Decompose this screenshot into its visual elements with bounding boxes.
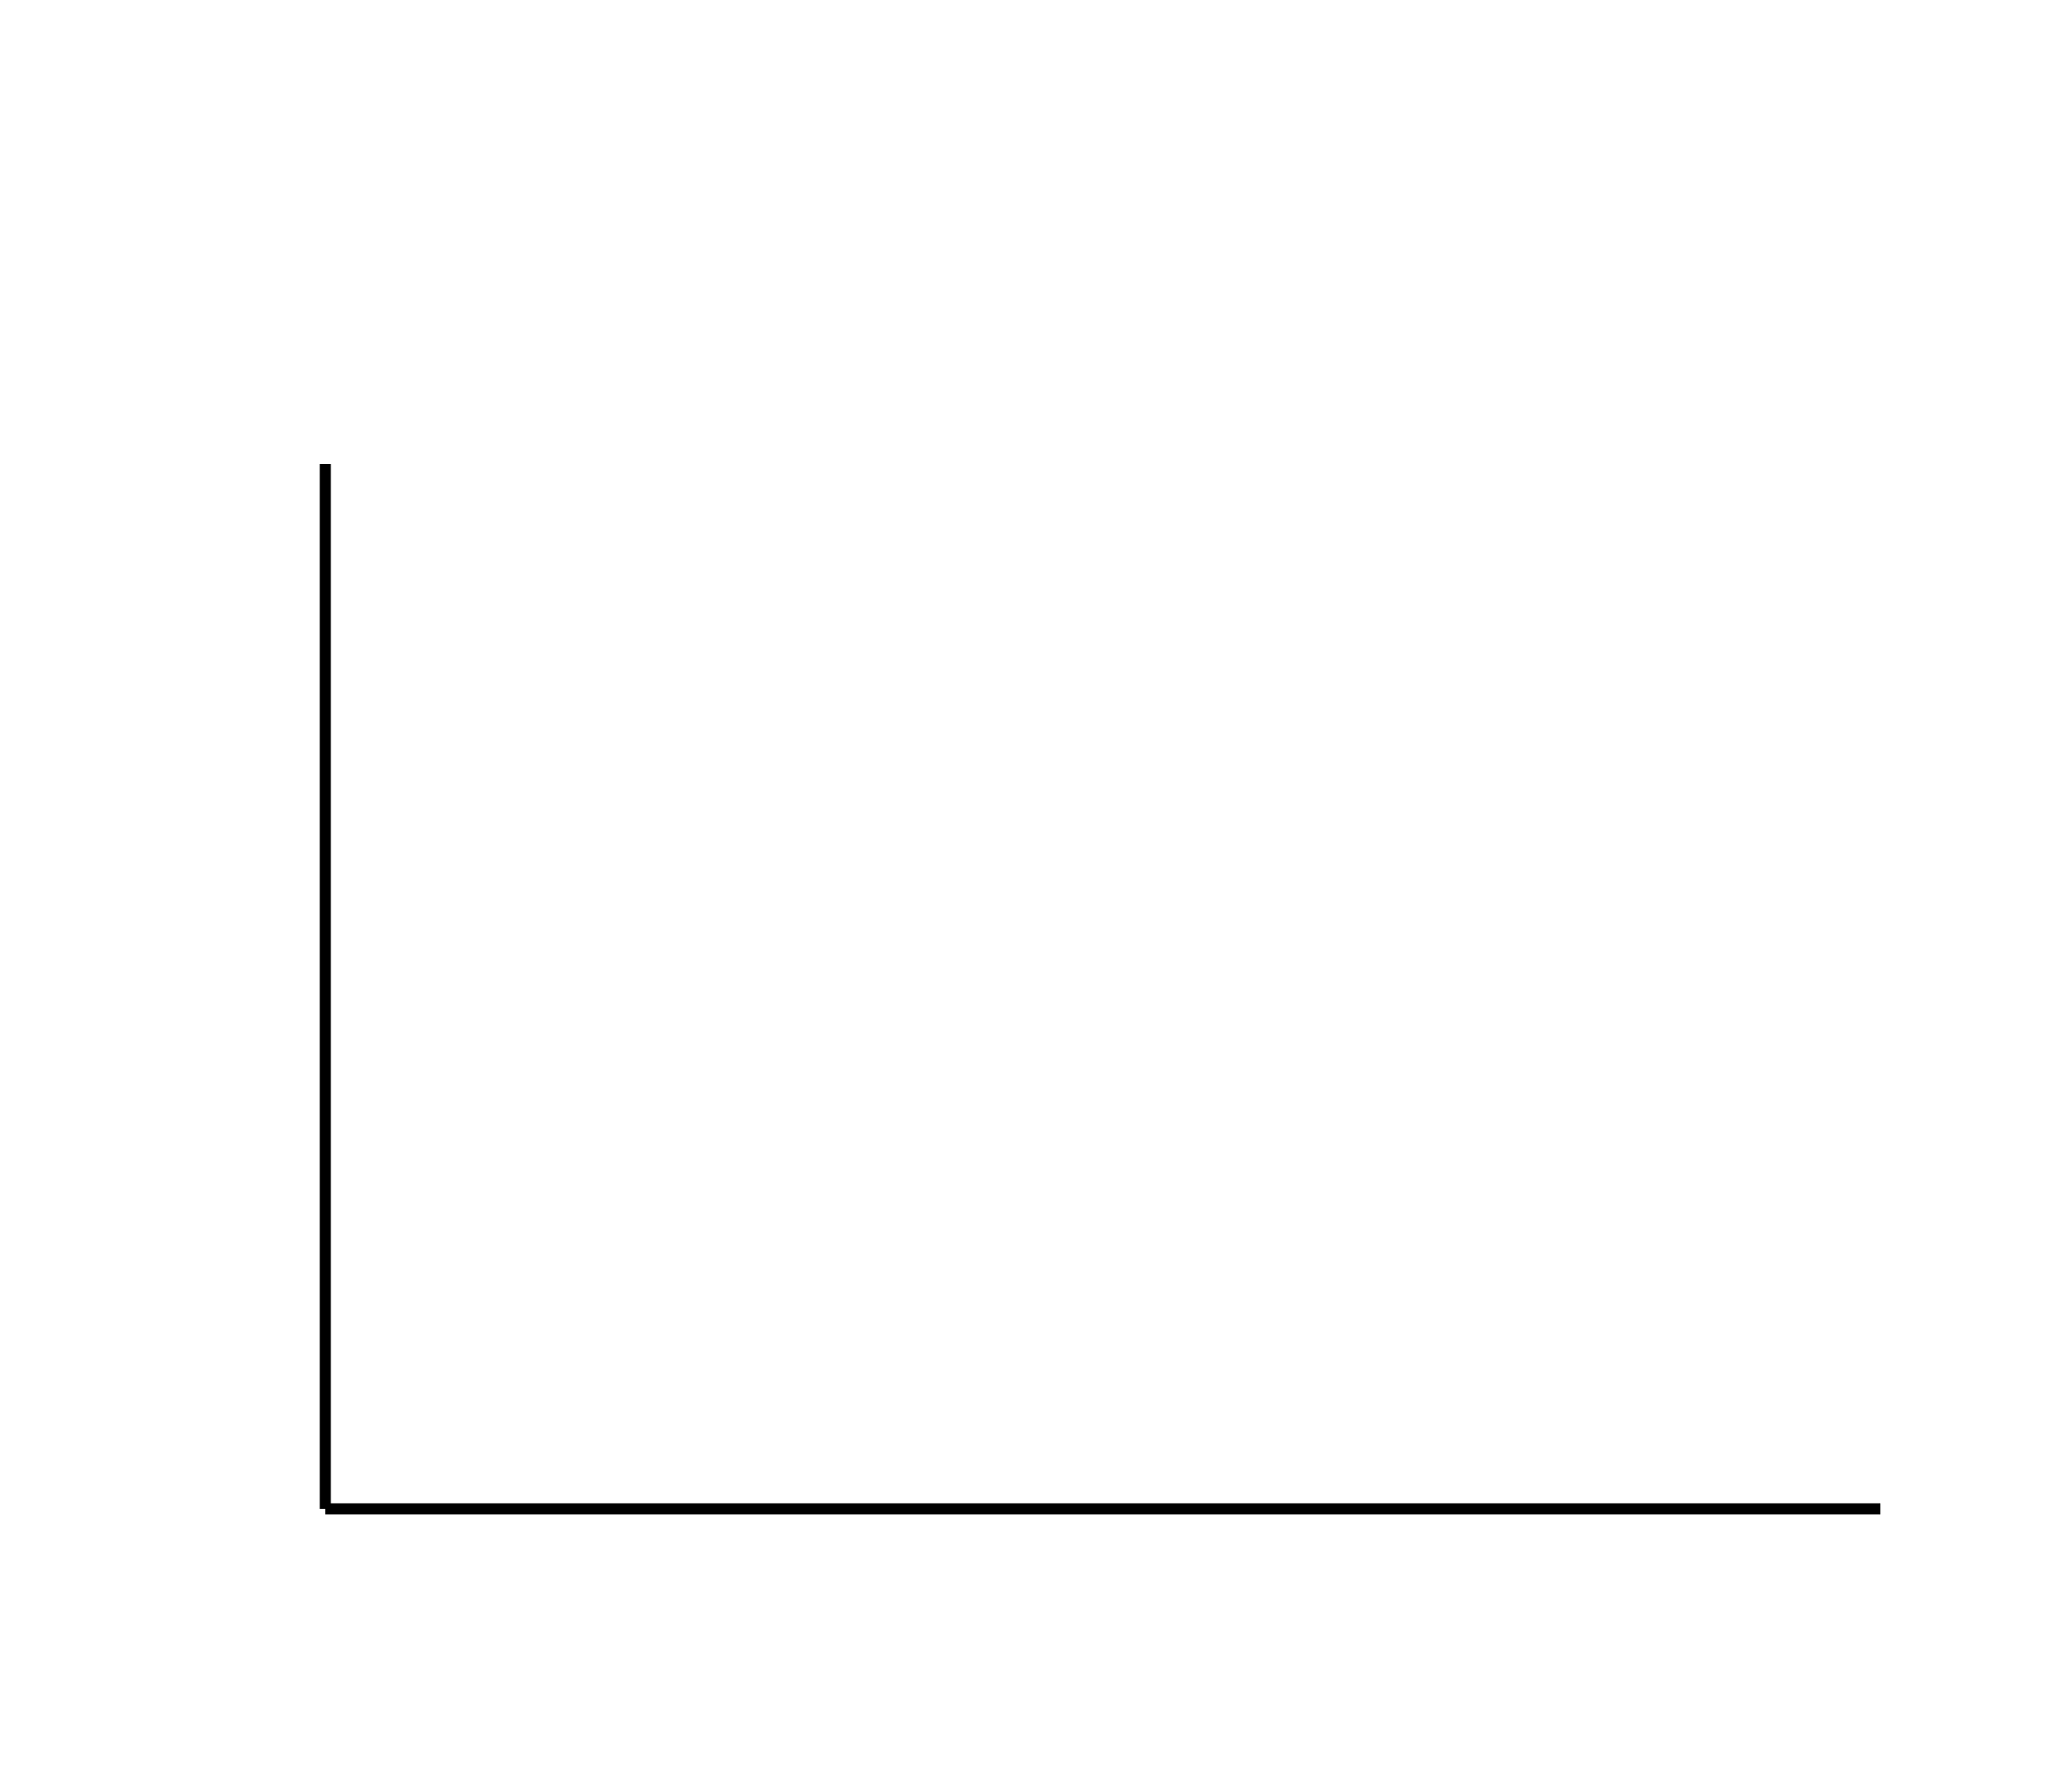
elisa-chart-figure [0,0,2072,1783]
plot-area [0,0,2072,1783]
